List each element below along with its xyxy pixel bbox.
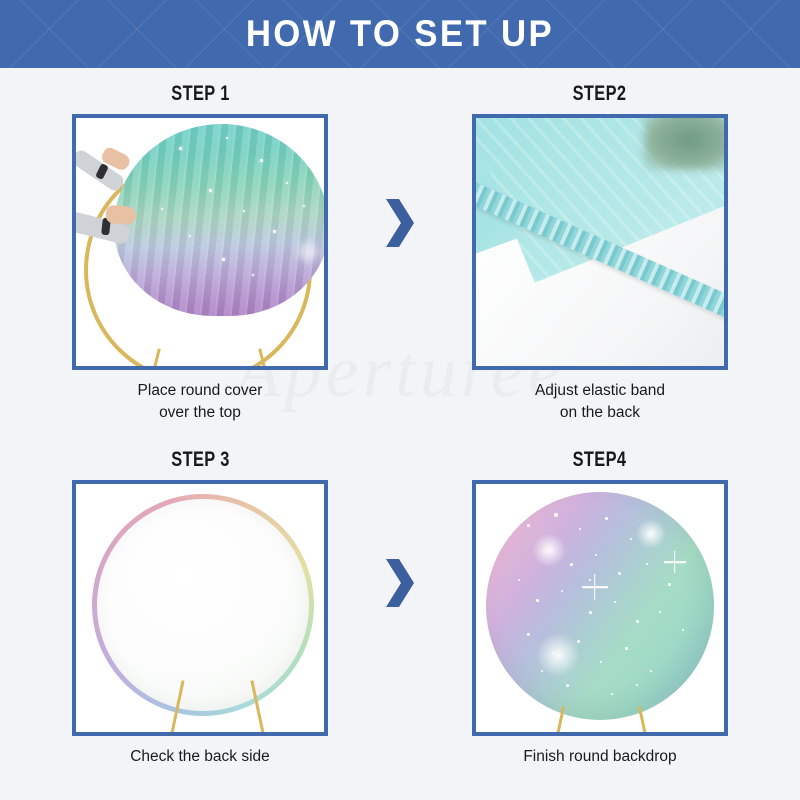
step-label-4: STEP4 [573, 448, 627, 472]
step-image-4 [472, 480, 728, 736]
background-blur-spot [644, 114, 728, 170]
step-caption-2-line1: Adjust elastic band [535, 380, 665, 402]
sparkle-center [582, 574, 608, 600]
step-image-1 [72, 114, 328, 370]
step-caption-2: Adjust elastic band on the back [535, 380, 665, 425]
step-caption-4-line1: Finish round backdrop [523, 746, 676, 768]
backdrop-glow-top [532, 533, 566, 567]
backdrop-glow-bottom [536, 633, 580, 677]
backdrop-rainbow-edge [92, 494, 314, 716]
step-image-2 [472, 114, 728, 370]
step-caption-2-line2: on the back [535, 402, 665, 424]
step-label-1: STEP 1 [171, 82, 229, 106]
person-hand-lower [105, 204, 137, 225]
step-caption-1-line2: over the top [138, 402, 263, 424]
step-cell-2: STEP2 Adjust elastic band on the back [400, 68, 800, 434]
step-cell-1: STEP 1 [0, 68, 400, 434]
step-caption-3: Check the back side [130, 746, 270, 768]
page-title: HOW TO SET UP [246, 13, 554, 55]
step-image-3 [72, 480, 328, 736]
gradient-cover-cloth [114, 124, 328, 316]
step-caption-1-line1: Place round cover [138, 380, 263, 402]
cloth-stars [114, 124, 328, 316]
chevron-right-icon [383, 197, 417, 249]
chevron-right-icon [383, 557, 417, 609]
steps-grid: STEP 1 [0, 68, 800, 800]
step-caption-3-line1: Check the back side [130, 746, 270, 768]
sparkle-right [664, 551, 686, 573]
step-caption-4: Finish round backdrop [523, 746, 676, 768]
step-label-3: STEP 3 [171, 448, 229, 472]
frame-leg-left [146, 348, 161, 370]
step-cell-3: STEP 3 Check the back side [0, 434, 400, 800]
backdrop-glow-right [636, 519, 666, 549]
page-header: HOW TO SET UP [0, 0, 800, 68]
backdrop-white-back [97, 499, 309, 711]
finished-backdrop-disc [486, 492, 714, 720]
step-label-2: STEP2 [573, 82, 627, 106]
step-caption-1: Place round cover over the top [138, 380, 263, 425]
step-cell-4: STEP4 [400, 434, 800, 800]
